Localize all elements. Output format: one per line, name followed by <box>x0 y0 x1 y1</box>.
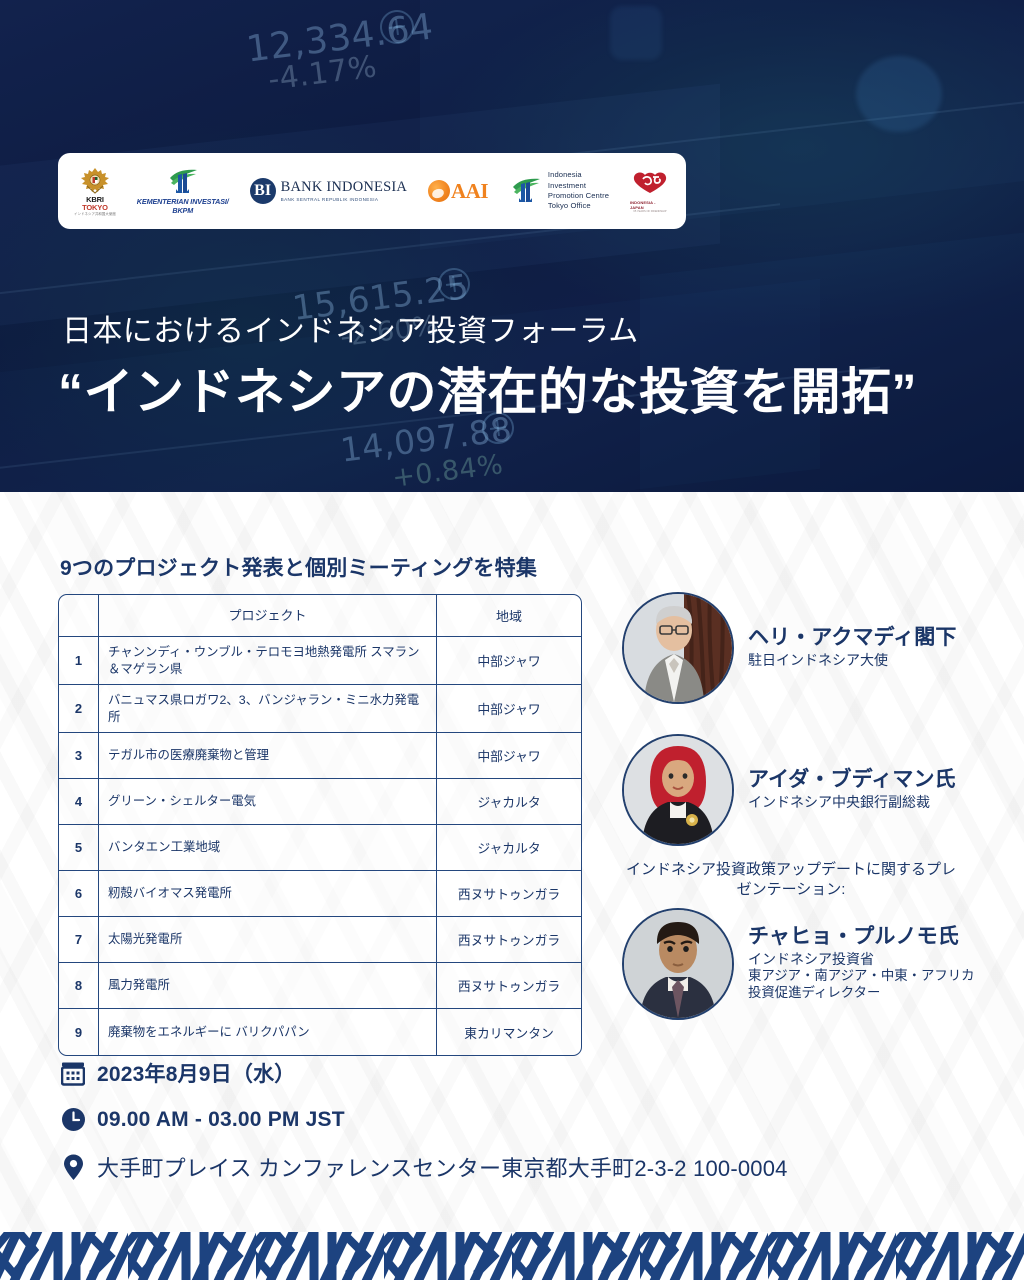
hero-title: “インドネシアの潜在的な投資を開拓” <box>58 352 917 424</box>
anniversary-mark-icon <box>631 170 669 199</box>
row-no: 1 <box>59 637 99 685</box>
logo-iipc-line2: Investment <box>548 181 609 191</box>
presenter-name: チャヒョ・プルノモ氏 <box>748 925 975 949</box>
avatar <box>622 908 734 1020</box>
event-poster: 12,334.64 -4.17% 15,615.25 -2.60% 14,097… <box>0 0 1024 1280</box>
table-row: 9 廃棄物をエネルギーに バリクパパン 東カリマンタン <box>59 1009 581 1055</box>
row-no: 6 <box>59 871 99 917</box>
row-project: グリーン・シェルター電気 <box>99 779 437 825</box>
logo-iipc-line1: Indonesia <box>548 170 609 180</box>
row-region: 西ヌサトゥンガラ <box>437 963 581 1009</box>
logo-kbri-sub: インドネシア共和国大使館 <box>74 211 116 216</box>
row-no: 5 <box>59 825 99 871</box>
table-row: 8 風力発電所 西ヌサトゥンガラ <box>59 963 581 1009</box>
table-row: 7 太陽光発電所 西ヌサトゥンガラ <box>59 917 581 963</box>
table-row: 3 テガル市の医療廃棄物と管理 中部ジャワ <box>59 733 581 779</box>
row-project: 廃棄物をエネルギーに バリクパパン <box>99 1009 437 1055</box>
logo-bank-indonesia: BI BANK INDONESIA BANK SENTRAL REPUBLIK … <box>250 178 407 204</box>
presenter-info: チャヒョ・プルノモ氏 インドネシア投資省 東アジア・南アジア・中東・アフリカ 投… <box>748 925 975 1002</box>
speaker-role: インドネシア中央銀行副総裁 <box>748 793 956 811</box>
event-location-row: 大手町プレイス カンファレンスセンター東京都大手町2-3-2 100-0004 <box>58 1151 788 1183</box>
table-row: 4 グリーン・シェルター電気 ジャカルタ <box>59 779 581 825</box>
row-no: 2 <box>59 685 99 733</box>
speaker-card-presenter: チャヒョ・プルノモ氏 インドネシア投資省 東アジア・南アジア・中東・アフリカ 投… <box>622 908 1002 1020</box>
avatar-photo <box>624 736 732 844</box>
event-date: 2023年8月9日（水） <box>97 1058 295 1088</box>
table-header-row: プロジェクト 地域 <box>59 595 581 637</box>
garuda-emblem-icon <box>79 166 111 196</box>
logo-anniv-sub: 65 YEARS OF FRIENDSHIP <box>633 210 666 213</box>
presentation-note: インドネシア投資政策アップデートに関するプレゼンテーション: <box>626 860 956 900</box>
row-region: ジャカルタ <box>437 779 581 825</box>
speaker-info: ヘリ・アクマディ閣下 駐日インドネシア大使 <box>748 626 956 669</box>
table-row: 1 チャンンディ・ウンブル・テロモヨ地熱発電所 スマラン＆マゲラン県 中部ジャワ <box>59 637 581 685</box>
logo-aai: AAI <box>428 179 488 204</box>
avatar-photo <box>624 594 732 702</box>
logo-iipc-tokyo: Indonesia Investment Promotion Centre To… <box>509 170 609 212</box>
event-info-list: 2023年8月9日（水） 09.00 AM - 03.00 PM JST 大手町… <box>58 1058 788 1202</box>
logo-bkpm-line1: KEMENTERIAN INVESTASI/ <box>137 197 229 206</box>
calendar-icon <box>58 1061 88 1086</box>
row-no: 4 <box>59 779 99 825</box>
aai-ball-icon <box>428 180 450 202</box>
row-no: 7 <box>59 917 99 963</box>
row-no: 8 <box>59 963 99 1009</box>
table-body: 1 チャンンディ・ウンブル・テロモヨ地熱発電所 スマラン＆マゲラン県 中部ジャワ… <box>59 637 581 1055</box>
table-row: 5 バンタエン工業地域 ジャカルタ <box>59 825 581 871</box>
col-header-no <box>59 595 99 637</box>
logo-bi-name: BANK INDONESIA <box>281 180 407 195</box>
clock-icon <box>58 1107 88 1132</box>
event-time-row: 09.00 AM - 03.00 PM JST <box>58 1107 788 1132</box>
speaker-name: アイダ・ブディマン氏 <box>748 768 956 792</box>
table-row: 2 バニュマス県ロガワ2、3、バンジャラン・ミニ水力発電所 中部ジャワ <box>59 685 581 733</box>
row-project: 籾殻バイオマス発電所 <box>99 871 437 917</box>
event-location: 大手町プレイス カンファレンスセンター東京都大手町2-3-2 100-0004 <box>97 1151 788 1183</box>
event-time: 09.00 AM - 03.00 PM JST <box>97 1108 345 1132</box>
section-heading: 9つのプロジェクト発表と個別ミーティングを特集 <box>60 552 537 582</box>
logo-iipc-line4: Tokyo Office <box>548 201 609 211</box>
hero-section: 12,334.64 -4.17% 15,615.25 -2.60% 14,097… <box>0 0 1024 492</box>
logo-kbri-tokyo: KBRI TOKYO インドネシア共和国大使館 <box>74 166 116 216</box>
sponsor-logo-bar: KBRI TOKYO インドネシア共和国大使館 <box>58 153 686 229</box>
event-date-row: 2023年8月9日（水） <box>58 1058 788 1088</box>
logo-iipc-line3: Promotion Centre <box>548 191 609 201</box>
logo-anniv-line2: INDONESIA - JAPAN <box>630 200 670 210</box>
project-table: プロジェクト 地域 1 チャンンディ・ウンブル・テロモヨ地熱発電所 スマラン＆マ… <box>58 594 582 1056</box>
row-region: 西ヌサトゥンガラ <box>437 917 581 963</box>
row-region: 中部ジャワ <box>437 637 581 685</box>
logo-kementerian-investasi-bkpm: KEMENTERIAN INVESTASI/ BKPM <box>137 167 229 215</box>
presenter-role: インドネシア投資省 <box>748 950 975 968</box>
table-row: 6 籾殻バイオマス発電所 西ヌサトゥンガラ <box>59 871 581 917</box>
speaker-role: 駐日インドネシア大使 <box>748 651 956 669</box>
row-project: チャンンディ・ウンブル・テロモヨ地熱発電所 スマラン＆マゲラン県 <box>99 637 437 685</box>
speaker-card-ambassador: ヘリ・アクマディ閣下 駐日インドネシア大使 <box>622 592 1002 704</box>
leaf-mark-icon <box>509 176 543 206</box>
presenter-role3: 投資促進ディレクター <box>748 985 975 1002</box>
presenter-role2: 東アジア・南アジア・中東・アフリカ <box>748 968 975 985</box>
row-region: 東カリマンタン <box>437 1009 581 1055</box>
row-project: バニュマス県ロガワ2、3、バンジャラン・ミニ水力発電所 <box>99 685 437 733</box>
row-project: テガル市の医療廃棄物と管理 <box>99 733 437 779</box>
row-region: 中部ジャワ <box>437 733 581 779</box>
logo-kbri-line2: TOKYO <box>82 204 108 212</box>
col-header-project: プロジェクト <box>99 595 437 637</box>
row-region: 西ヌサトゥンガラ <box>437 871 581 917</box>
logo-bi-sub: BANK SENTRAL REPUBLIK INDONESIA <box>281 197 407 202</box>
row-region: ジャカルタ <box>437 825 581 871</box>
map-pin-icon <box>58 1154 88 1181</box>
logo-bkpm-line2: BKPM <box>172 206 193 215</box>
row-no: 3 <box>59 733 99 779</box>
avatar-photo <box>624 910 732 1018</box>
row-project: 太陽光発電所 <box>99 917 437 963</box>
hero-blur-blob <box>856 56 942 132</box>
hero-blur-blob <box>610 6 662 60</box>
row-project: 風力発電所 <box>99 963 437 1009</box>
speakers-panel: ヘリ・アクマディ閣下 駐日インドネシア大使 <box>622 592 1002 1034</box>
row-project: バンタエン工業地域 <box>99 825 437 871</box>
row-no: 9 <box>59 1009 99 1055</box>
speaker-name: ヘリ・アクマディ閣下 <box>748 626 956 650</box>
leaf-mark-icon <box>166 167 200 197</box>
logo-indonesia-japan-65: INDONESIA - JAPAN 65 YEARS OF FRIENDSHIP <box>630 174 670 208</box>
col-header-region: 地域 <box>437 595 581 637</box>
speaker-card-deputy-governor: アイダ・ブディマン氏 インドネシア中央銀行副総裁 <box>622 734 1002 846</box>
avatar <box>622 734 734 846</box>
row-region: 中部ジャワ <box>437 685 581 733</box>
hero-subtitle: 日本におけるインドネシア投資フォーラム <box>62 306 639 350</box>
batik-pattern <box>0 1232 1024 1280</box>
speaker-info: アイダ・ブディマン氏 インドネシア中央銀行副総裁 <box>748 768 956 811</box>
bank-indonesia-mark-icon: BI <box>250 178 276 204</box>
batik-bottom-band <box>0 1232 1024 1280</box>
avatar <box>622 592 734 704</box>
logo-aai-text: AAI <box>451 179 488 204</box>
